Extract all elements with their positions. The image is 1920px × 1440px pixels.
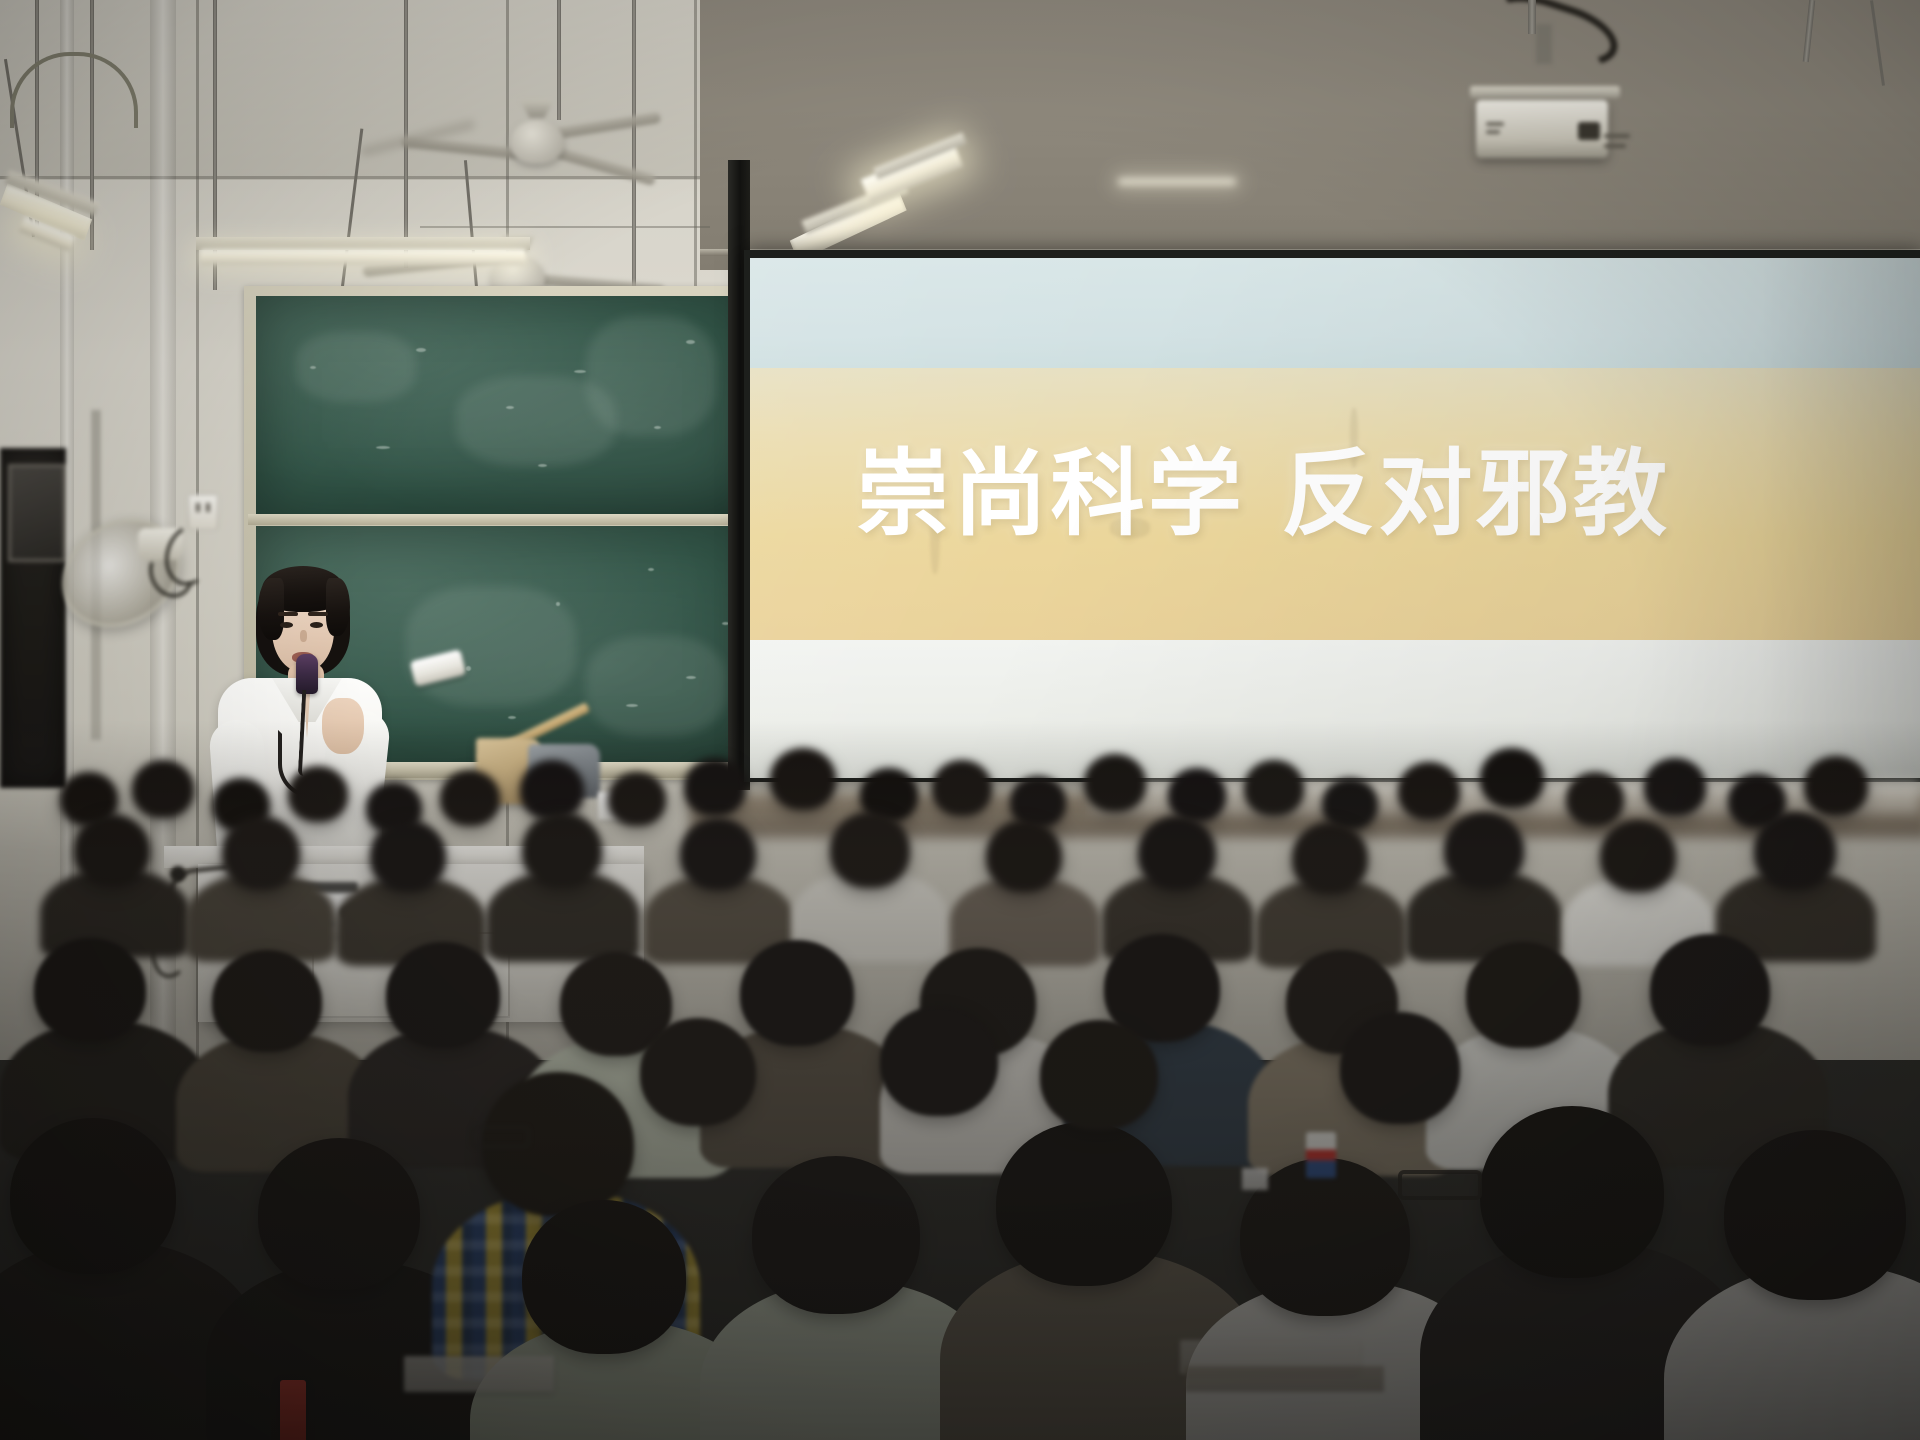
fan-hub <box>510 120 564 164</box>
hanging-rod <box>632 0 636 300</box>
fluorescent-tube-light <box>200 249 526 265</box>
projector-vent <box>1486 130 1500 134</box>
audience-shadow-gradient <box>0 720 1920 1440</box>
projector-ceiling-rod <box>1528 0 1536 34</box>
upper-right-wall-band <box>700 0 1920 270</box>
handheld-microphone <box>296 654 318 694</box>
projector-vent <box>1604 134 1630 138</box>
projector-mount-plate <box>1470 86 1620 98</box>
fluorescent-tube-light <box>1118 178 1236 186</box>
projector-lens <box>1578 122 1600 140</box>
wall-seam <box>420 226 710 228</box>
hanging-rod <box>557 0 561 120</box>
chalkboard-divider <box>248 514 756 525</box>
projector-vent <box>1604 144 1626 148</box>
chalkboard-upper <box>256 296 748 514</box>
door-window <box>8 464 66 562</box>
projection-screen: 崇尚科学 反对邪教 <box>750 258 1920 778</box>
slide-top-band <box>750 258 1920 368</box>
slide-title: 崇尚科学 反对邪教 <box>856 448 1670 542</box>
wall-seam <box>694 0 697 330</box>
classroom-photo: 崇尚科学 反对邪教 <box>0 0 1920 1440</box>
projector-mount-pole <box>1536 24 1552 64</box>
student-audience <box>0 720 1920 1440</box>
wall-seam <box>0 176 700 179</box>
projector-vent <box>1486 122 1504 126</box>
